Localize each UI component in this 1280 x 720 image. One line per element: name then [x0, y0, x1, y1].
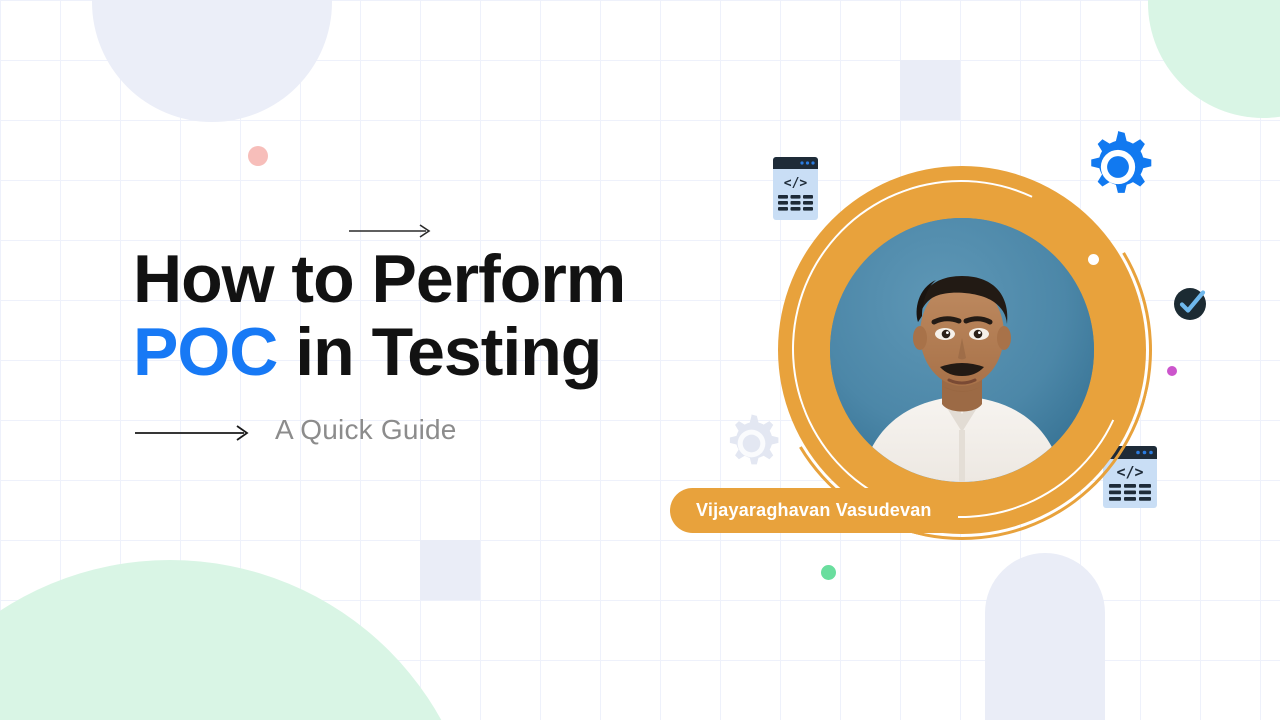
- presenter-name-banner: Vijayaraghavan Vasudevan: [670, 488, 958, 533]
- title-line-1: How to Perform: [133, 243, 753, 316]
- lavender-circle-top-left: [92, 0, 332, 122]
- lavender-arch-shape: [985, 553, 1105, 720]
- mint-circle-top-right: [1148, 0, 1280, 118]
- avatar: [778, 166, 1146, 534]
- arrow-right-icon-bottom: [133, 423, 253, 448]
- check-circle-icon: [1172, 284, 1212, 329]
- gear-icon-gray: [720, 412, 783, 480]
- title-accent-word: POC: [133, 314, 277, 390]
- purple-dot-icon: [1167, 366, 1177, 376]
- avatar-arc-dot: [1088, 254, 1099, 265]
- lavender-square-bottom: [420, 540, 480, 600]
- pink-dot-icon: [248, 146, 268, 166]
- title-line-2: POC in Testing: [133, 316, 753, 389]
- mint-circle-bottom-left: [0, 560, 480, 720]
- presenter-name: Vijayaraghavan Vasudevan: [696, 500, 932, 521]
- green-dot-icon: [821, 565, 836, 580]
- subtitle: A Quick Guide: [275, 414, 457, 446]
- lavender-square-top: [900, 60, 960, 120]
- avatar-photo: [830, 218, 1094, 482]
- title-line-2-rest: in Testing: [277, 314, 601, 390]
- headline-block: How to Perform POC in Testing: [133, 243, 753, 390]
- slide-canvas: How to Perform POC in Testing A Quick Gu…: [0, 0, 1280, 720]
